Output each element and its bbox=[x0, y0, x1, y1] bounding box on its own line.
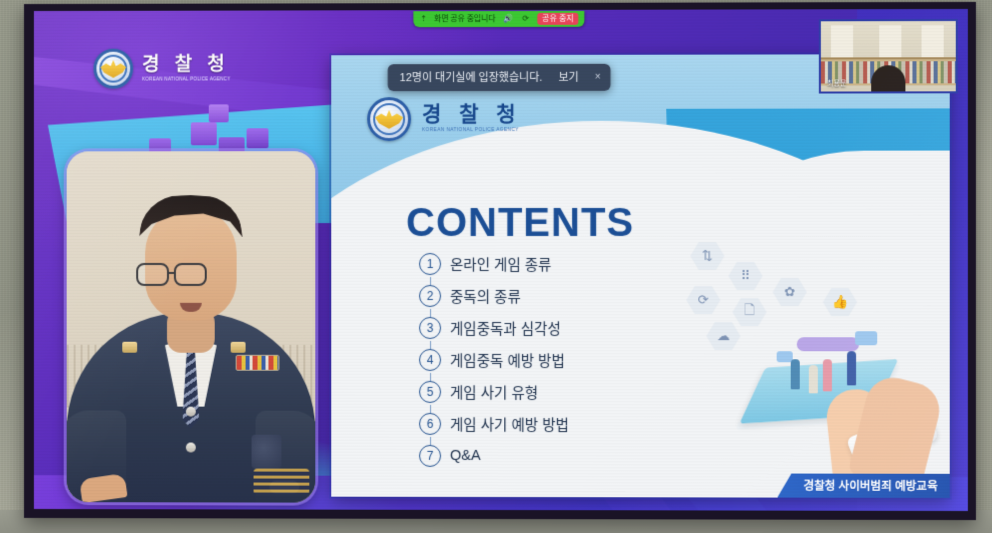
presenter-rank-insignia-right bbox=[231, 342, 246, 353]
contents-label-4: 게임중독 예방 방법 bbox=[450, 349, 565, 370]
refresh-cycle-icon: ⟳ bbox=[686, 285, 720, 315]
knpa-korean-label: 경 찰 청 bbox=[142, 55, 230, 74]
contents-label-2: 중독의 종류 bbox=[450, 285, 521, 306]
gear-icon: ✿ bbox=[773, 277, 807, 307]
monitor-bezel: 경 찰 청 KOREAN NATIONAL POLICE AGENCY bbox=[24, 2, 976, 520]
contents-number-6: 6 bbox=[419, 413, 441, 435]
slide-title: CONTENTS bbox=[406, 201, 634, 246]
contents-item-3: 3 게임중독과 심각성 bbox=[419, 315, 569, 341]
slide-footer: 경찰청 사이버범죄 예방교육 bbox=[777, 474, 949, 498]
illustration-person-1 bbox=[791, 359, 800, 389]
stop-share-button[interactable]: 공유 중지 bbox=[537, 12, 579, 24]
contents-number-7: 7 bbox=[419, 445, 441, 467]
slide-illustration bbox=[749, 325, 940, 476]
grid-dots-icon: ⠿ bbox=[728, 261, 762, 291]
toast-view-button[interactable]: 보기 bbox=[558, 69, 578, 85]
illustration-person-2 bbox=[809, 365, 818, 393]
participant-video-thumbnail[interactable]: 최용운 bbox=[819, 19, 958, 93]
screen-share-bar[interactable]: ⇡ 화면 공유 중입니다 🔊 ⟳ 공유 중지 bbox=[413, 11, 584, 27]
toast-message: 12명이 대기실에 입장했습니다. bbox=[400, 69, 543, 85]
slide-knpa-english-label: KOREAN NATIONAL POLICE AGENCY bbox=[422, 129, 522, 134]
document-share-icon: 🗋 bbox=[732, 297, 766, 327]
monitor-screen: 경 찰 청 KOREAN NATIONAL POLICE AGENCY bbox=[34, 9, 968, 511]
knpa-english-label: KOREAN NATIONAL POLICE AGENCY bbox=[142, 77, 230, 82]
illustration-progress-bar bbox=[797, 337, 859, 351]
share-screen-icon: ⇡ bbox=[420, 15, 427, 23]
presenter-rank-insignia-left bbox=[122, 342, 137, 353]
knpa-wing-icon bbox=[100, 59, 126, 79]
refresh-icon[interactable]: ⟳ bbox=[521, 14, 530, 23]
thumbs-up-icon: 👍 bbox=[823, 287, 857, 317]
slide-knpa-wing-icon bbox=[375, 109, 403, 130]
illustration-person-4 bbox=[847, 351, 856, 385]
slide-knpa-emblem-icon bbox=[367, 97, 411, 141]
contents-number-5: 5 bbox=[419, 381, 441, 403]
contents-label-7: Q&A bbox=[450, 448, 481, 464]
presenter-service-ribbon bbox=[236, 355, 280, 371]
thumbnail-participant-name: 최용운 bbox=[827, 78, 846, 88]
contents-label-5: 게임 사기 유형 bbox=[450, 381, 538, 402]
presenter-uniform-button-2 bbox=[186, 443, 196, 453]
presenter-glasses-right bbox=[174, 263, 207, 286]
contents-label-3: 게임중독과 심각성 bbox=[450, 317, 561, 338]
contents-item-1: 1 온라인 게임 종류 bbox=[419, 251, 569, 277]
slide-knpa-korean-label: 경 찰 청 bbox=[422, 104, 522, 125]
decor-cube-2 bbox=[191, 122, 217, 145]
illustration-person-3 bbox=[823, 359, 832, 391]
transfer-arrows-icon: ⇅ bbox=[690, 241, 724, 271]
contents-item-6: 6 게임 사기 예방 방법 bbox=[419, 411, 569, 437]
microphone-icon[interactable]: 🔊 bbox=[502, 14, 514, 23]
presenter-glasses-bridge bbox=[169, 272, 176, 274]
presenter-sleeve-emblem bbox=[252, 435, 282, 469]
contents-number-1: 1 bbox=[419, 253, 441, 275]
knpa-logo-background: 경 찰 청 KOREAN NATIONAL POLICE AGENCY bbox=[93, 48, 230, 88]
presenter-video-tile[interactable] bbox=[67, 151, 316, 502]
contents-item-7: 7 Q&A bbox=[419, 443, 569, 469]
illustration-bubble-2 bbox=[855, 331, 877, 345]
contents-item-2: 2 중독의 종류 bbox=[419, 283, 569, 309]
decor-cube-5 bbox=[247, 128, 269, 148]
contents-list: 1 온라인 게임 종류 2 중독의 종류 3 게임중독과 심각성 4 게임중독 … bbox=[419, 251, 569, 469]
toast-close-icon[interactable]: × bbox=[595, 71, 601, 82]
presenter-cuff-stripes bbox=[254, 469, 310, 495]
decor-cube-4 bbox=[209, 104, 229, 122]
knpa-emblem-icon bbox=[93, 49, 133, 89]
contents-number-2: 2 bbox=[419, 285, 441, 307]
shared-screen-slide[interactable]: 경 찰 청 KOREAN NATIONAL POLICE AGENCY ⇅ ⠿ … bbox=[331, 54, 949, 498]
waiting-room-toast[interactable]: 12명이 대기실에 입장했습니다. 보기 × bbox=[388, 64, 611, 91]
contents-number-4: 4 bbox=[419, 349, 441, 371]
contents-label-6: 게임 사기 예방 방법 bbox=[450, 413, 569, 434]
presenter-glasses-left bbox=[136, 263, 169, 286]
slide-footer-label: 경찰청 사이버범죄 예방교육 bbox=[803, 478, 937, 494]
contents-item-4: 4 게임중독 예방 방법 bbox=[419, 347, 569, 373]
slide-knpa-logo: 경 찰 청 KOREAN NATIONAL POLICE AGENCY bbox=[367, 97, 521, 141]
contents-label-1: 온라인 게임 종류 bbox=[450, 253, 551, 274]
contents-number-3: 3 bbox=[419, 317, 441, 339]
thumbnail-participant-head bbox=[871, 65, 905, 91]
contents-item-5: 5 게임 사기 유형 bbox=[419, 379, 569, 405]
presenter-uniform-button-1 bbox=[186, 407, 196, 417]
share-status-label: 화면 공유 중입니다 bbox=[434, 13, 495, 24]
